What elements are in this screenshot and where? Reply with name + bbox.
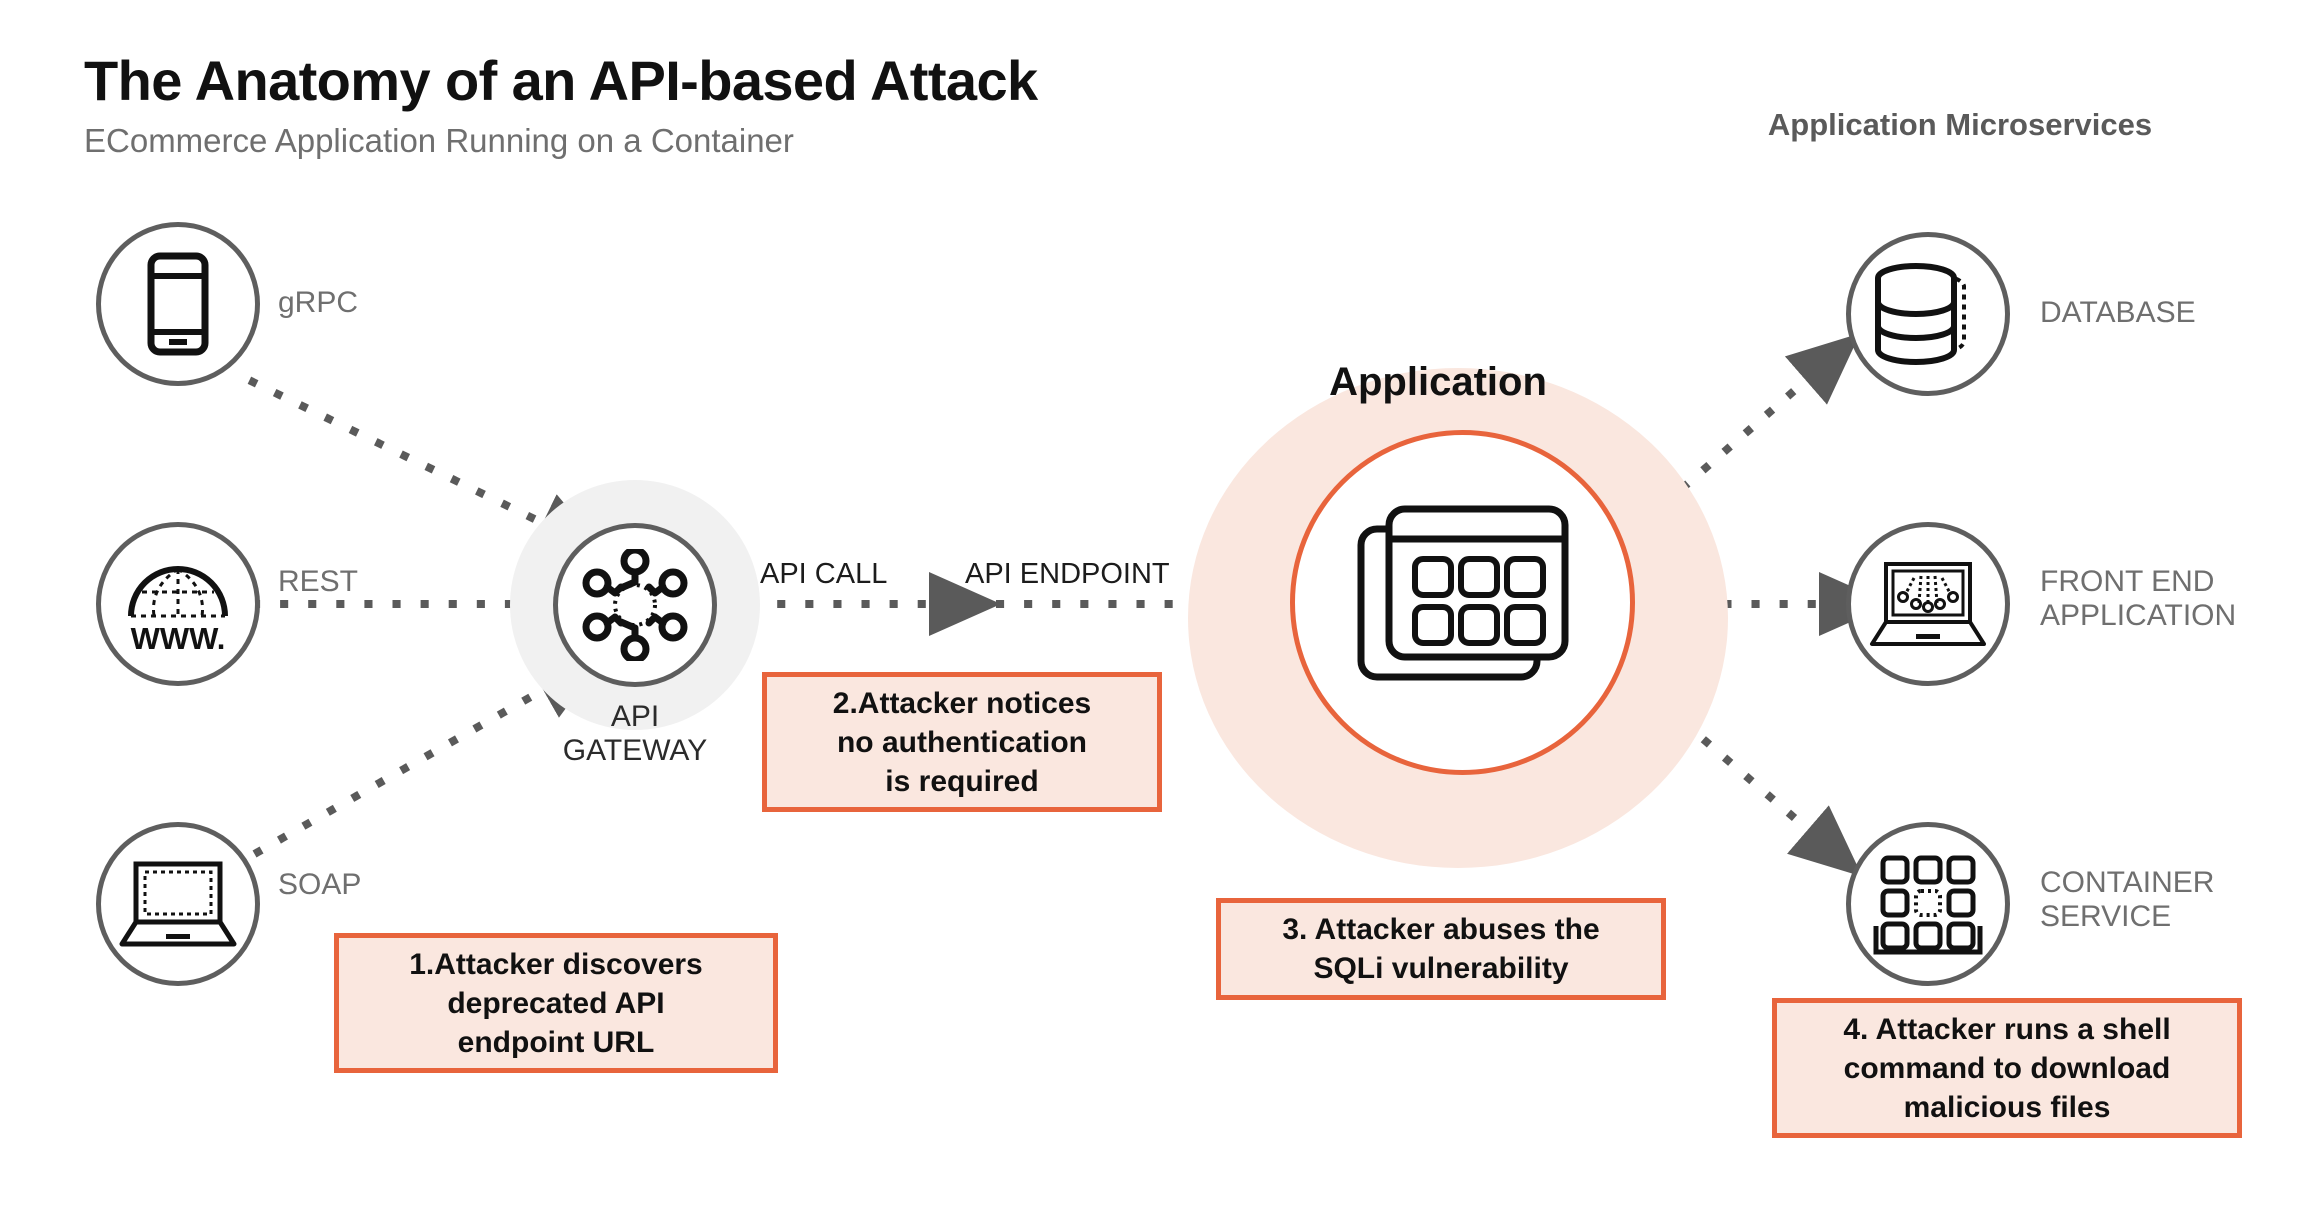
- api-hub-nodes-icon: [579, 549, 691, 661]
- edge-label-api-endpoint: API ENDPOINT: [965, 558, 1170, 591]
- diagram-canvas: The Anatomy of an API-based Attack EComm…: [0, 0, 2314, 1212]
- application-title: Application: [1238, 360, 1638, 405]
- svg-text:WWW.: WWW.: [131, 621, 226, 654]
- edge-grpc-to-gateway: [253, 382, 557, 530]
- microservice-node-frontend[interactable]: [1846, 522, 2010, 686]
- callout-step-2[interactable]: 2.Attacker notices no authentication is …: [762, 672, 1162, 812]
- microservice-label-database: DATABASE: [2040, 296, 2196, 330]
- mobile-phone-icon: [147, 252, 209, 356]
- container-grid-icon: [1873, 852, 1983, 956]
- client-node-rest[interactable]: WWW.: [96, 522, 260, 686]
- page-subtitle: ECommerce Application Running on a Conta…: [84, 122, 794, 160]
- callout-step-4[interactable]: 4. Attacker runs a shell command to down…: [1772, 998, 2242, 1138]
- globe-www-icon: WWW.: [119, 554, 237, 654]
- gateway-label: API GATEWAY: [535, 700, 735, 767]
- callout-step-3[interactable]: 3. Attacker abuses the SQLi vulnerabilit…: [1216, 898, 1666, 1000]
- callout-step-1[interactable]: 1.Attacker discovers deprecated API endp…: [334, 933, 778, 1073]
- microservice-node-database[interactable]: [1846, 232, 2010, 396]
- client-label-grpc: gRPC: [278, 286, 358, 320]
- client-label-rest: REST: [278, 565, 358, 599]
- database-cylinder-icon: [1870, 262, 1986, 366]
- app-window-grid-icon: [1353, 503, 1573, 703]
- laptop-network-icon: [1866, 558, 1990, 650]
- client-node-soap[interactable]: [96, 822, 260, 986]
- microservices-section-heading: Application Microservices: [1760, 108, 2160, 143]
- gateway-node[interactable]: [553, 523, 717, 687]
- application-node[interactable]: [1290, 430, 1635, 775]
- client-node-grpc[interactable]: [96, 222, 260, 386]
- client-label-soap: SOAP: [278, 868, 361, 902]
- edge-soap-to-gateway: [258, 682, 557, 852]
- laptop-icon: [116, 858, 240, 950]
- edge-label-api-call: API CALL: [760, 558, 887, 591]
- microservice-label-container: CONTAINER SERVICE: [2040, 866, 2214, 933]
- page-title: The Anatomy of an API-based Attack: [84, 48, 1038, 113]
- microservice-label-frontend: FRONT END APPLICATION: [2040, 565, 2236, 632]
- microservice-node-container[interactable]: [1846, 822, 2010, 986]
